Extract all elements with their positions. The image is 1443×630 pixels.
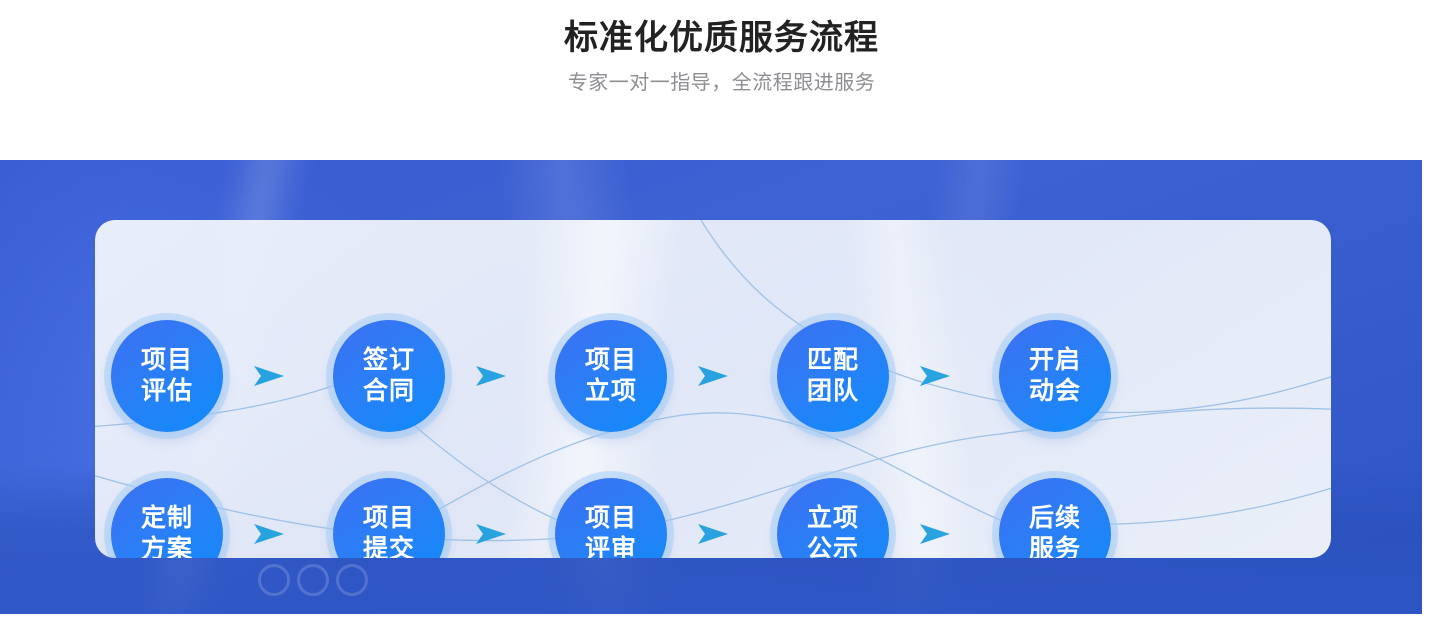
arrow-right-icon bbox=[918, 363, 952, 389]
node-label-line1: 项目 bbox=[363, 503, 415, 534]
arrow-right-icon bbox=[474, 521, 508, 547]
node-label-line1: 项目 bbox=[585, 345, 637, 376]
node-label-line2: 评审 bbox=[585, 534, 637, 558]
arrow-right-icon bbox=[918, 521, 952, 547]
process-banner: 项目 评估 签订 合同 项目 立项 匹配 团队 开启 动会 bbox=[0, 160, 1422, 614]
node-label-line2: 服务 bbox=[1029, 534, 1081, 558]
page-subtitle: 专家一对一指导，全流程跟进服务 bbox=[0, 66, 1443, 100]
flow-panel: 项目 评估 签订 合同 项目 立项 匹配 团队 开启 动会 bbox=[95, 220, 1331, 558]
arrow-right-icon bbox=[474, 363, 508, 389]
node-label-line2: 合同 bbox=[363, 376, 415, 407]
arrow-right-icon bbox=[252, 521, 286, 547]
flow-node-sign-contract[interactable]: 签订 合同 bbox=[333, 320, 445, 432]
node-label-line2: 评估 bbox=[141, 376, 193, 407]
flow-node-project-assessment[interactable]: 项目 评估 bbox=[111, 320, 223, 432]
node-label-line1: 开启 bbox=[1029, 345, 1081, 376]
flow-node-match-team[interactable]: 匹配 团队 bbox=[777, 320, 889, 432]
node-label-line2: 动会 bbox=[1029, 376, 1081, 407]
arrow-right-icon bbox=[696, 521, 730, 547]
node-label-line1: 匹配 bbox=[807, 345, 859, 376]
decorative-circle-icon bbox=[258, 564, 290, 596]
decorative-circle-icon bbox=[336, 564, 368, 596]
node-label-line2: 方案 bbox=[141, 534, 193, 558]
node-label-line2: 团队 bbox=[807, 376, 859, 407]
node-label-line1: 项目 bbox=[141, 345, 193, 376]
node-label-line1: 立项 bbox=[807, 503, 859, 534]
decorative-circles bbox=[258, 564, 368, 596]
flow-node-project-submit[interactable]: 项目 提交 bbox=[333, 478, 445, 558]
node-label-line1: 签订 bbox=[363, 345, 415, 376]
node-label-line1: 定制 bbox=[141, 503, 193, 534]
node-label-line2: 公示 bbox=[807, 534, 859, 558]
flow-node-project-initiation[interactable]: 项目 立项 bbox=[555, 320, 667, 432]
node-label-line1: 后续 bbox=[1029, 503, 1081, 534]
decorative-circle-icon bbox=[297, 564, 329, 596]
node-label-line2: 立项 bbox=[585, 376, 637, 407]
arrow-right-icon bbox=[252, 363, 286, 389]
flow-connector-lines bbox=[95, 220, 1331, 558]
flow-node-follow-up-service[interactable]: 后续 服务 bbox=[999, 478, 1111, 558]
page-header: 标准化优质服务流程 专家一对一指导，全流程跟进服务 bbox=[0, 0, 1443, 100]
flow-node-kickoff-meeting[interactable]: 开启 动会 bbox=[999, 320, 1111, 432]
node-label-line2: 提交 bbox=[363, 534, 415, 558]
arrow-right-icon bbox=[696, 363, 730, 389]
node-label-line1: 项目 bbox=[585, 503, 637, 534]
page-title: 标准化优质服务流程 bbox=[0, 16, 1443, 60]
flow-node-custom-plan[interactable]: 定制 方案 bbox=[111, 478, 223, 558]
